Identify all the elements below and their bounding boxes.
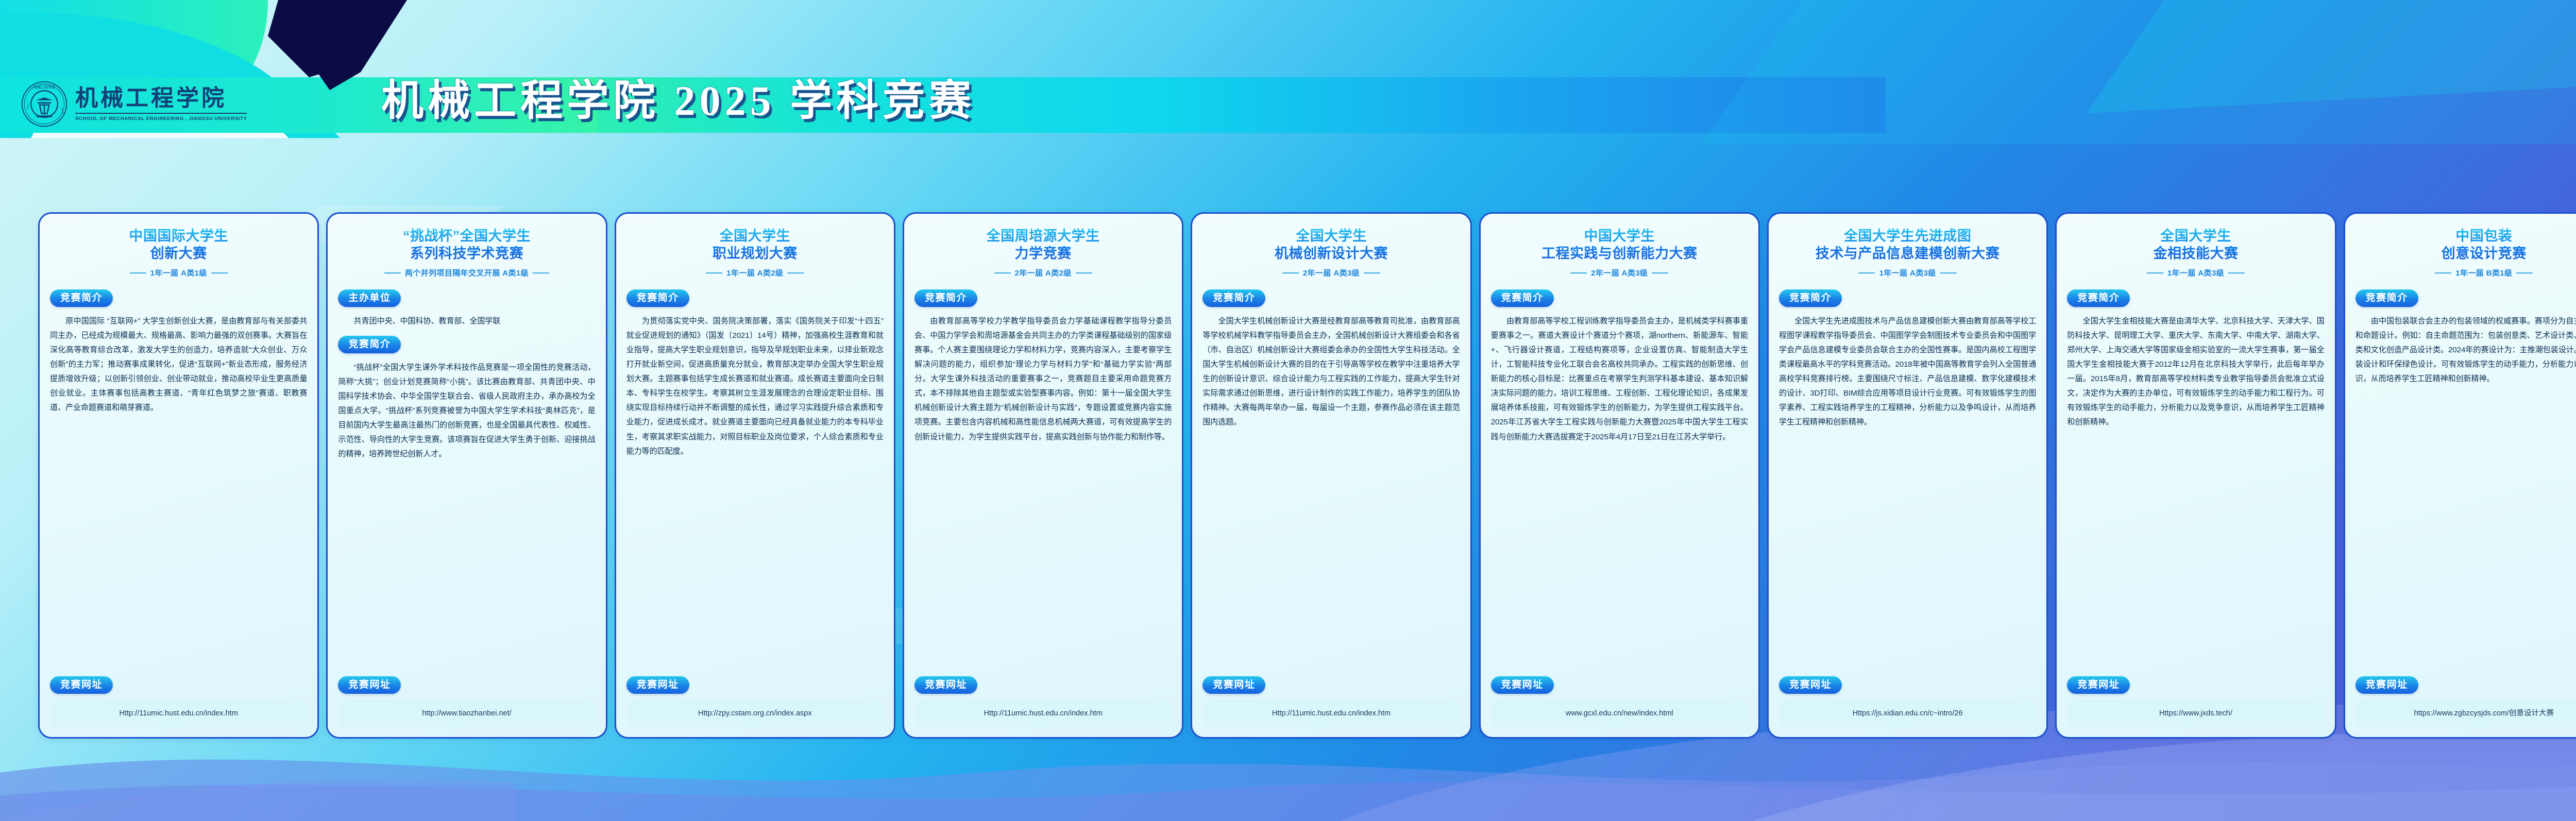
competition-card[interactable]: “挑战杯”全国大学生 系列科技学术竞赛两个并列项目隔年交叉开展 A类1级主办单位… <box>326 212 607 739</box>
competition-frequency-level: 1年一届 A类1级 <box>50 267 307 278</box>
intro-section-pill: 竞赛简介 <box>2355 289 2418 307</box>
competition-card[interactable]: 全国大学生 机械创新设计大赛2年一届 A类3级竞赛简介全国大学生机械创新设计大赛… <box>1191 212 1471 739</box>
poster-canvas: 机械工程学院 School Jiangsu 机械工程学院 SCHOOL OF M… <box>0 0 2576 821</box>
competition-url-section: 竞赛网址Https://www.jxds.tech/ <box>2067 676 2324 727</box>
competition-frequency-level: 2年一届 A类3级 <box>1202 267 1460 278</box>
logo-college-name-cn: 机械工程学院 <box>75 87 247 110</box>
svg-text:机械工程学院: 机械工程学院 <box>33 85 55 90</box>
competition-card[interactable]: 全国周培源大学生 力学竞赛2年一届 A类2级竞赛简介由教育部高等学校力学教学指导… <box>903 212 1183 739</box>
competition-title: 全国大学生 职业规划大赛 <box>626 227 884 262</box>
intro-section-pill: 竞赛简介 <box>2067 289 2130 307</box>
competition-url[interactable]: Https://www.jxds.tech/ <box>2067 700 2324 727</box>
competition-frequency-level: 2年一届 A类3级 <box>1491 267 1748 278</box>
logo-wordmark: 机械工程学院 SCHOOL OF MECHANICAL ENGINEERING … <box>75 87 247 121</box>
competition-title: 全国大学生先进成图 技术与产品信息建模创新大赛 <box>1779 227 2036 262</box>
url-section-pill: 竞赛网址 <box>1779 676 1842 694</box>
competition-url[interactable]: Http://11umic.hust.edu.cn/index.htm <box>914 700 1172 727</box>
intro-section-pill: 竞赛简介 <box>50 289 113 307</box>
url-section-pill: 竞赛网址 <box>1491 676 1554 694</box>
jiangsu-university-mechanical-engineering-seal-icon: 机械工程学院 School Jiangsu <box>21 80 68 128</box>
competition-description: 由教育部高等学校力学教学指导委员会力学基础课程教学指导分委员会、中国力学学会和周… <box>914 314 1172 669</box>
competition-description: “挑战杯”全国大学生课外学术科技作品竞赛是一项全国性的竞赛活动，简称“大挑”；创… <box>338 361 595 669</box>
logo-divider <box>75 113 247 114</box>
competition-card[interactable]: 全国大学生 职业规划大赛1年一届 A类2级竞赛简介为贯彻落实党中央、国务院决策部… <box>615 212 895 739</box>
competition-title: 全国大学生 金相技能大赛 <box>2067 227 2324 262</box>
competition-url[interactable]: Http://11umic.hust.edu.cn/index.htm <box>1202 700 1460 727</box>
competition-title: “挑战杯”全国大学生 系列科技学术竞赛 <box>338 227 595 262</box>
competition-title: 中国国际大学生 创新大赛 <box>50 227 307 262</box>
competition-url[interactable]: Https://js.xidian.edu.cn/c~intro/26 <box>1779 700 2036 727</box>
host-organizer-text: 共青团中央、中国科协、教育部、全国学联 <box>338 314 595 329</box>
competition-url[interactable]: www.gcxl.edu.cn/new/index.html <box>1491 700 1748 727</box>
intro-section-pill: 竞赛简介 <box>914 289 977 307</box>
competition-frequency-level: 1年一届 A类2级 <box>626 267 884 278</box>
intro-section-pill: 竞赛简介 <box>338 336 401 353</box>
competition-description: 全国大学生金相技能大赛是由清华大学、北京科技大学、天津大学、国防科技大学、昆明理… <box>2067 314 2324 669</box>
intro-section-pill: 竞赛简介 <box>626 289 689 307</box>
competition-description: 全国大学生先进成图技术与产品信息建模创新大赛由教育部高等学校工程图学课程教学指导… <box>1779 314 2036 669</box>
svg-text:School: School <box>26 104 29 110</box>
competition-url[interactable]: Http://11umic.hust.edu.cn/index.htm <box>50 700 307 727</box>
competition-url[interactable]: http://www.tiaozhanbei.net/ <box>338 700 595 727</box>
competition-url-section: 竞赛网址Http://zpy.cstam.org.cn/index.aspx <box>626 676 884 727</box>
competition-url[interactable]: https://www.zgbzcysjds.com/创意设计大赛 <box>2355 700 2576 727</box>
competition-frequency-level: 两个并列项目隔年交叉开展 A类1级 <box>338 267 595 278</box>
competition-url-section: 竞赛网址https://www.zgbzcysjds.com/创意设计大赛 <box>2355 676 2576 727</box>
competition-description: 由教育部高等学校工程训练教学指导委员会主办，是机械类学科赛事重要赛事之一。赛道大… <box>1491 314 1748 669</box>
college-logo: 机械工程学院 School Jiangsu 机械工程学院 SCHOOL OF M… <box>21 80 247 128</box>
intro-section-pill: 竞赛简介 <box>1491 289 1554 307</box>
competition-card[interactable]: 中国大学生 工程实践与创新能力大赛2年一届 A类3级竞赛简介由教育部高等学校工程… <box>1479 212 1760 739</box>
host-organizer-pill: 主办单位 <box>338 289 401 307</box>
competition-card-grid: 中国国际大学生 创新大赛1年一届 A类1级竞赛简介原中国国际 “互联网+” 大学… <box>38 212 2576 739</box>
competition-frequency-level: 1年一届 A类3级 <box>2067 267 2324 278</box>
url-section-pill: 竞赛网址 <box>1202 676 1265 694</box>
competition-description: 由中国包装联合会主办的包装领域的权威赛事。赛项分为自主命题设计和命题设计。例如：… <box>2355 314 2576 669</box>
competition-card[interactable]: 中国国际大学生 创新大赛1年一届 A类1级竞赛简介原中国国际 “互联网+” 大学… <box>38 212 319 739</box>
competition-description: 原中国国际 “互联网+” 大学生创新创业大赛，是由教育部与有关部委共同主办，已经… <box>50 314 307 669</box>
competition-frequency-level: 2年一届 A类2级 <box>914 267 1172 278</box>
url-section-pill: 竞赛网址 <box>914 676 977 694</box>
competition-title: 全国大学生 机械创新设计大赛 <box>1202 227 1460 262</box>
competition-url-section: 竞赛网址Http://11umic.hust.edu.cn/index.htm <box>1202 676 1460 727</box>
competition-frequency-level: 1年一届 B类1级 <box>2355 267 2576 278</box>
intro-section-pill: 竞赛简介 <box>1779 289 1842 307</box>
competition-url-section: 竞赛网址Http://11umic.hust.edu.cn/index.htm <box>50 676 307 727</box>
competition-url[interactable]: Http://zpy.cstam.org.cn/index.aspx <box>626 700 884 727</box>
page-title: 机械工程学院 2025 学科竞赛 <box>381 77 975 125</box>
intro-section-pill: 竞赛简介 <box>1202 289 1265 307</box>
competition-url-section: 竞赛网址Https://js.xidian.edu.cn/c~intro/26 <box>1779 676 2036 727</box>
logo-college-name-en: SCHOOL OF MECHANICAL ENGINEERING , JIANG… <box>75 116 247 122</box>
url-section-pill: 竞赛网址 <box>2355 676 2418 694</box>
competition-url-section: 竞赛网址www.gcxl.edu.cn/new/index.html <box>1491 676 1748 727</box>
url-section-pill: 竞赛网址 <box>2067 676 2130 694</box>
url-section-pill: 竞赛网址 <box>50 676 113 694</box>
competition-description: 为贯彻落实党中央、国务院决策部署，落实《国务院关于印发“十四五”就业促进规划的通… <box>626 314 884 669</box>
competition-card[interactable]: 全国大学生 金相技能大赛1年一届 A类3级竞赛简介全国大学生金相技能大赛是由清华… <box>2055 212 2336 739</box>
competition-title: 中国大学生 工程实践与创新能力大赛 <box>1491 227 1748 262</box>
competition-card[interactable]: 全国大学生先进成图 技术与产品信息建模创新大赛1年一届 A类3级竞赛简介全国大学… <box>1767 212 2048 739</box>
competition-title: 全国周培源大学生 力学竞赛 <box>914 227 1172 262</box>
competition-title: 中国包装 创意设计竞赛 <box>2355 227 2576 262</box>
url-section-pill: 竞赛网址 <box>626 676 689 694</box>
competition-url-section: 竞赛网址Http://11umic.hust.edu.cn/index.htm <box>914 676 1172 727</box>
url-section-pill: 竞赛网址 <box>338 676 401 694</box>
competition-card[interactable]: 中国包装 创意设计竞赛1年一届 B类1级竞赛简介由中国包装联合会主办的包装领域的… <box>2344 212 2576 739</box>
competition-frequency-level: 1年一届 A类3级 <box>1779 267 2036 278</box>
competition-url-section: 竞赛网址http://www.tiaozhanbei.net/ <box>338 676 595 727</box>
competition-description: 全国大学生机械创新设计大赛是经教育部高等教育司批准，由教育部高等学校机械学科教学… <box>1202 314 1460 669</box>
